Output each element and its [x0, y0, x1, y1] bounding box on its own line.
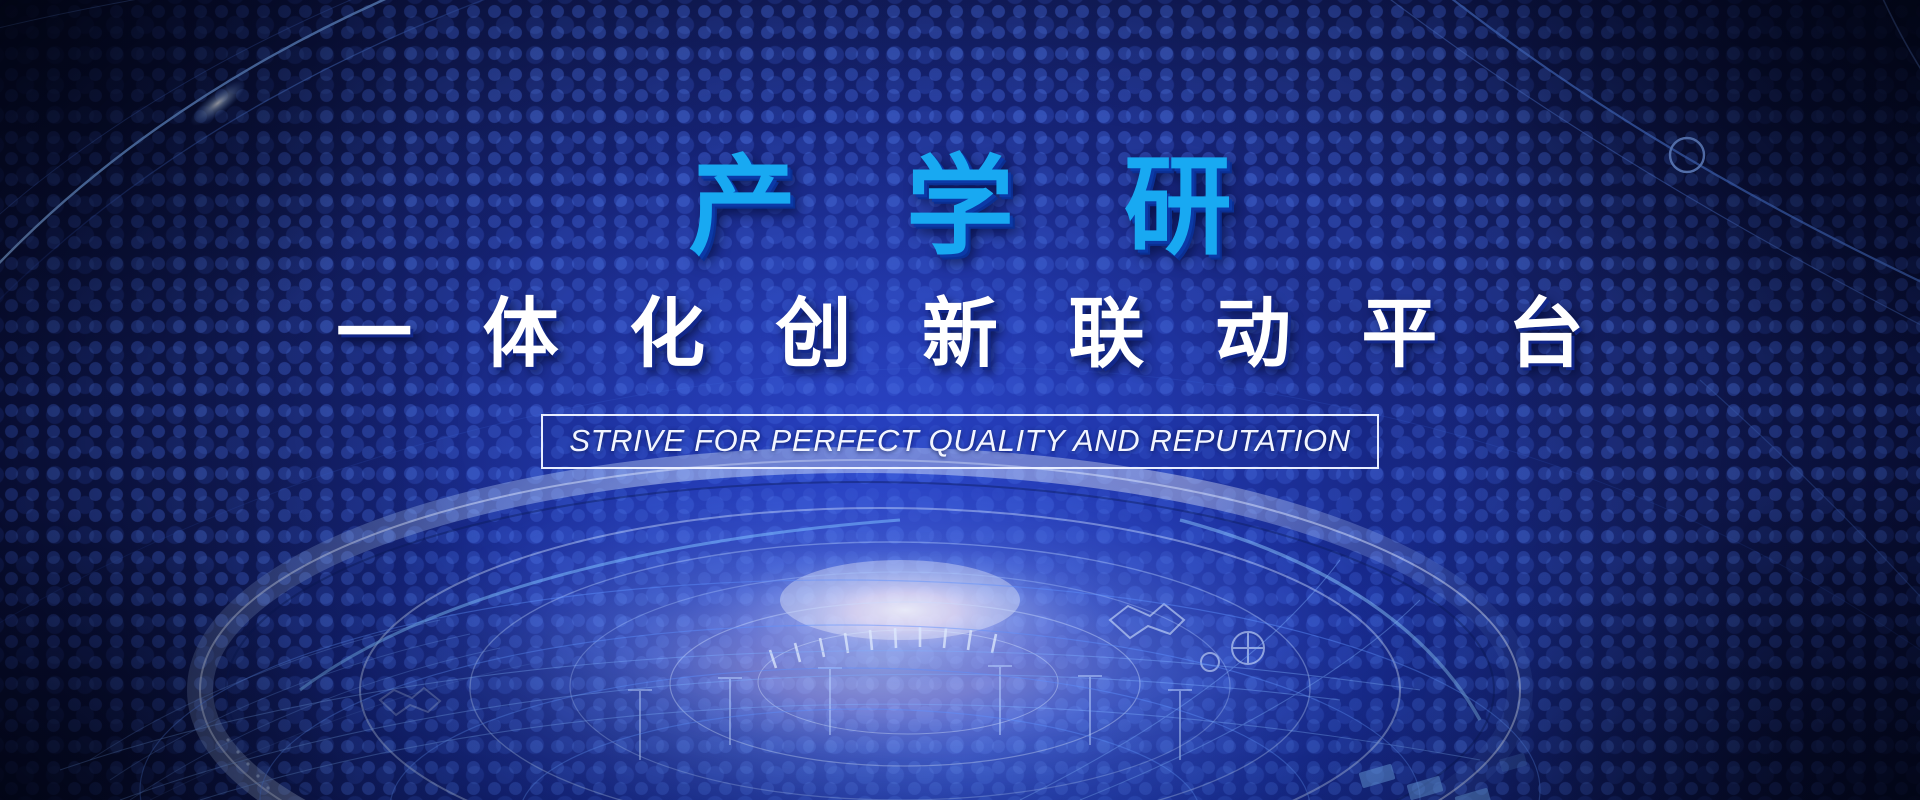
banner-title-sub: 一 体 化 创 新 联 动 平 台 — [314, 296, 1606, 372]
banner-title-main: 产 学 研 — [652, 154, 1267, 262]
banner-content: 产 学 研 一 体 化 创 新 联 动 平 台 STRIVE FOR PERFE… — [0, 0, 1920, 800]
hero-banner: 产 学 研 一 体 化 创 新 联 动 平 台 STRIVE FOR PERFE… — [0, 0, 1920, 800]
banner-tagline: STRIVE FOR PERFECT QUALITY AND REPUTATIO… — [569, 423, 1350, 458]
banner-tagline-box: STRIVE FOR PERFECT QUALITY AND REPUTATIO… — [541, 414, 1378, 469]
